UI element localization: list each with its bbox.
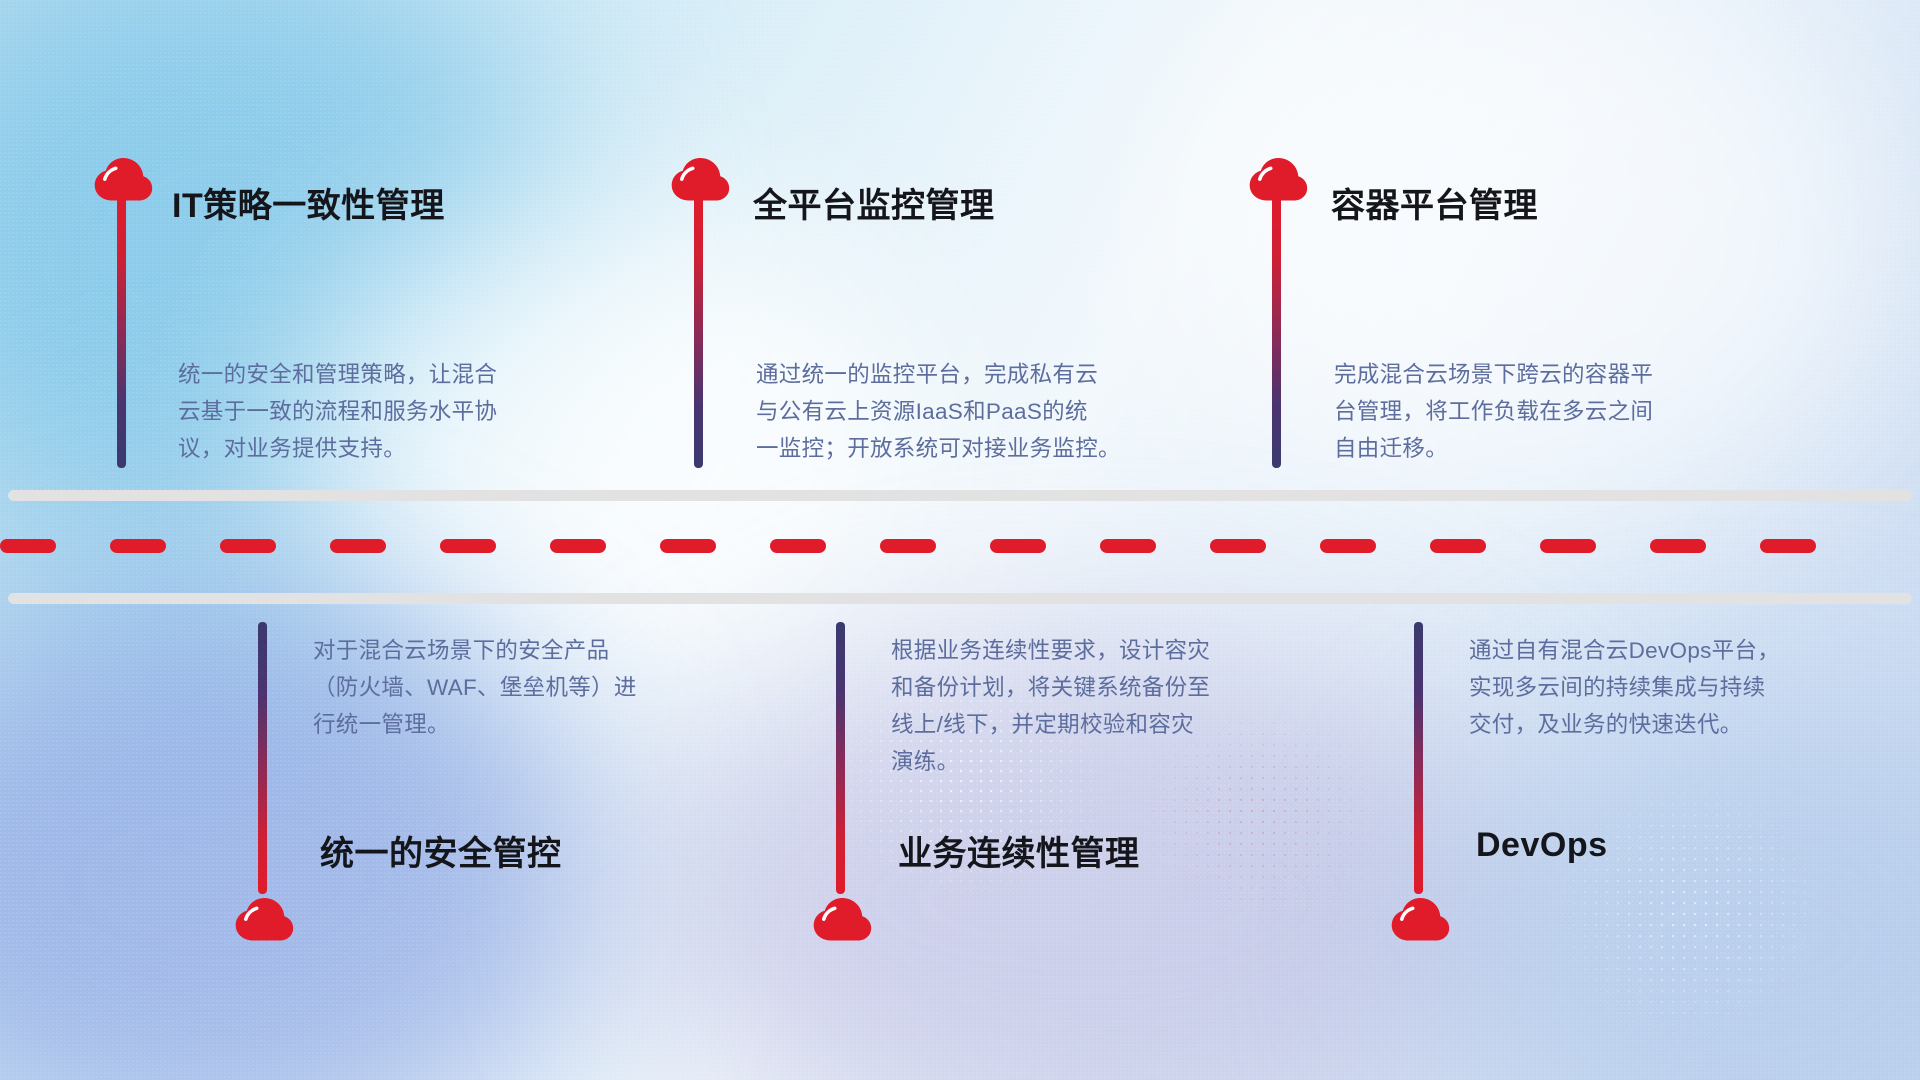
- dash-segment: [0, 539, 56, 553]
- cloud-icon: [231, 896, 295, 942]
- cloud-icon: [1387, 896, 1451, 942]
- dash-segment: [1540, 539, 1596, 553]
- connector-stem: [694, 196, 703, 468]
- infographic-canvas: IT策略一致性管理 统一的安全和管理策略，让混合 云基于一致的流程和服务水平协 …: [0, 0, 1920, 1080]
- dash-segment: [1100, 539, 1156, 553]
- column-body-text: 完成混合云场景下跨云的容器平 台管理，将工作负载在多云之间 自由迁移。: [1334, 356, 1764, 467]
- connector-stem: [1272, 196, 1281, 468]
- dash-segment: [220, 539, 276, 553]
- connector-stem: [1414, 622, 1423, 894]
- column-body-text: 根据业务连续性要求，设计容灾 和备份计划，将关键系统备份至 线上/线下，并定期校…: [891, 632, 1331, 780]
- column-body-text: 对于混合云场景下的安全产品 （防火墙、WAF、堡垒机等）进 行统一管理。: [313, 632, 743, 743]
- dash-segment: [990, 539, 1046, 553]
- cloud-icon: [809, 896, 873, 942]
- divider-rule-top: [8, 490, 1912, 501]
- column-heading: 统一的安全管控: [320, 826, 562, 875]
- column-body-text: 通过自有混合云DevOps平台， 实现多云间的持续集成与持续 交付，及业务的快速…: [1469, 632, 1899, 743]
- column-heading: 容器平台管理: [1331, 178, 1538, 227]
- dash-segment: [1430, 539, 1486, 553]
- column-heading: 全平台监控管理: [753, 178, 995, 227]
- dashed-separator: [0, 539, 1920, 553]
- dash-segment: [110, 539, 166, 553]
- dash-segment: [1760, 539, 1816, 553]
- column-heading: IT策略一致性管理: [172, 178, 445, 227]
- dash-segment: [880, 539, 936, 553]
- dash-segment: [330, 539, 386, 553]
- column-body-text: 统一的安全和管理策略，让混合 云基于一致的流程和服务水平协 议，对业务提供支持。: [178, 356, 608, 467]
- dash-segment: [1320, 539, 1376, 553]
- dash-segment: [440, 539, 496, 553]
- column-body-text: 通过统一的监控平台，完成私有云 与公有云上资源IaaS和PaaS的统 一监控；开…: [756, 356, 1196, 467]
- dash-segment: [660, 539, 716, 553]
- dash-segment: [1210, 539, 1266, 553]
- connector-stem: [117, 196, 126, 468]
- dash-segment: [770, 539, 826, 553]
- column-heading: 业务连续性管理: [898, 826, 1140, 875]
- connector-stem: [258, 622, 267, 894]
- dash-segment: [1650, 539, 1706, 553]
- dash-segment: [550, 539, 606, 553]
- connector-stem: [836, 622, 845, 894]
- divider-rule-bottom: [8, 593, 1912, 604]
- column-heading: DevOps: [1476, 826, 1608, 865]
